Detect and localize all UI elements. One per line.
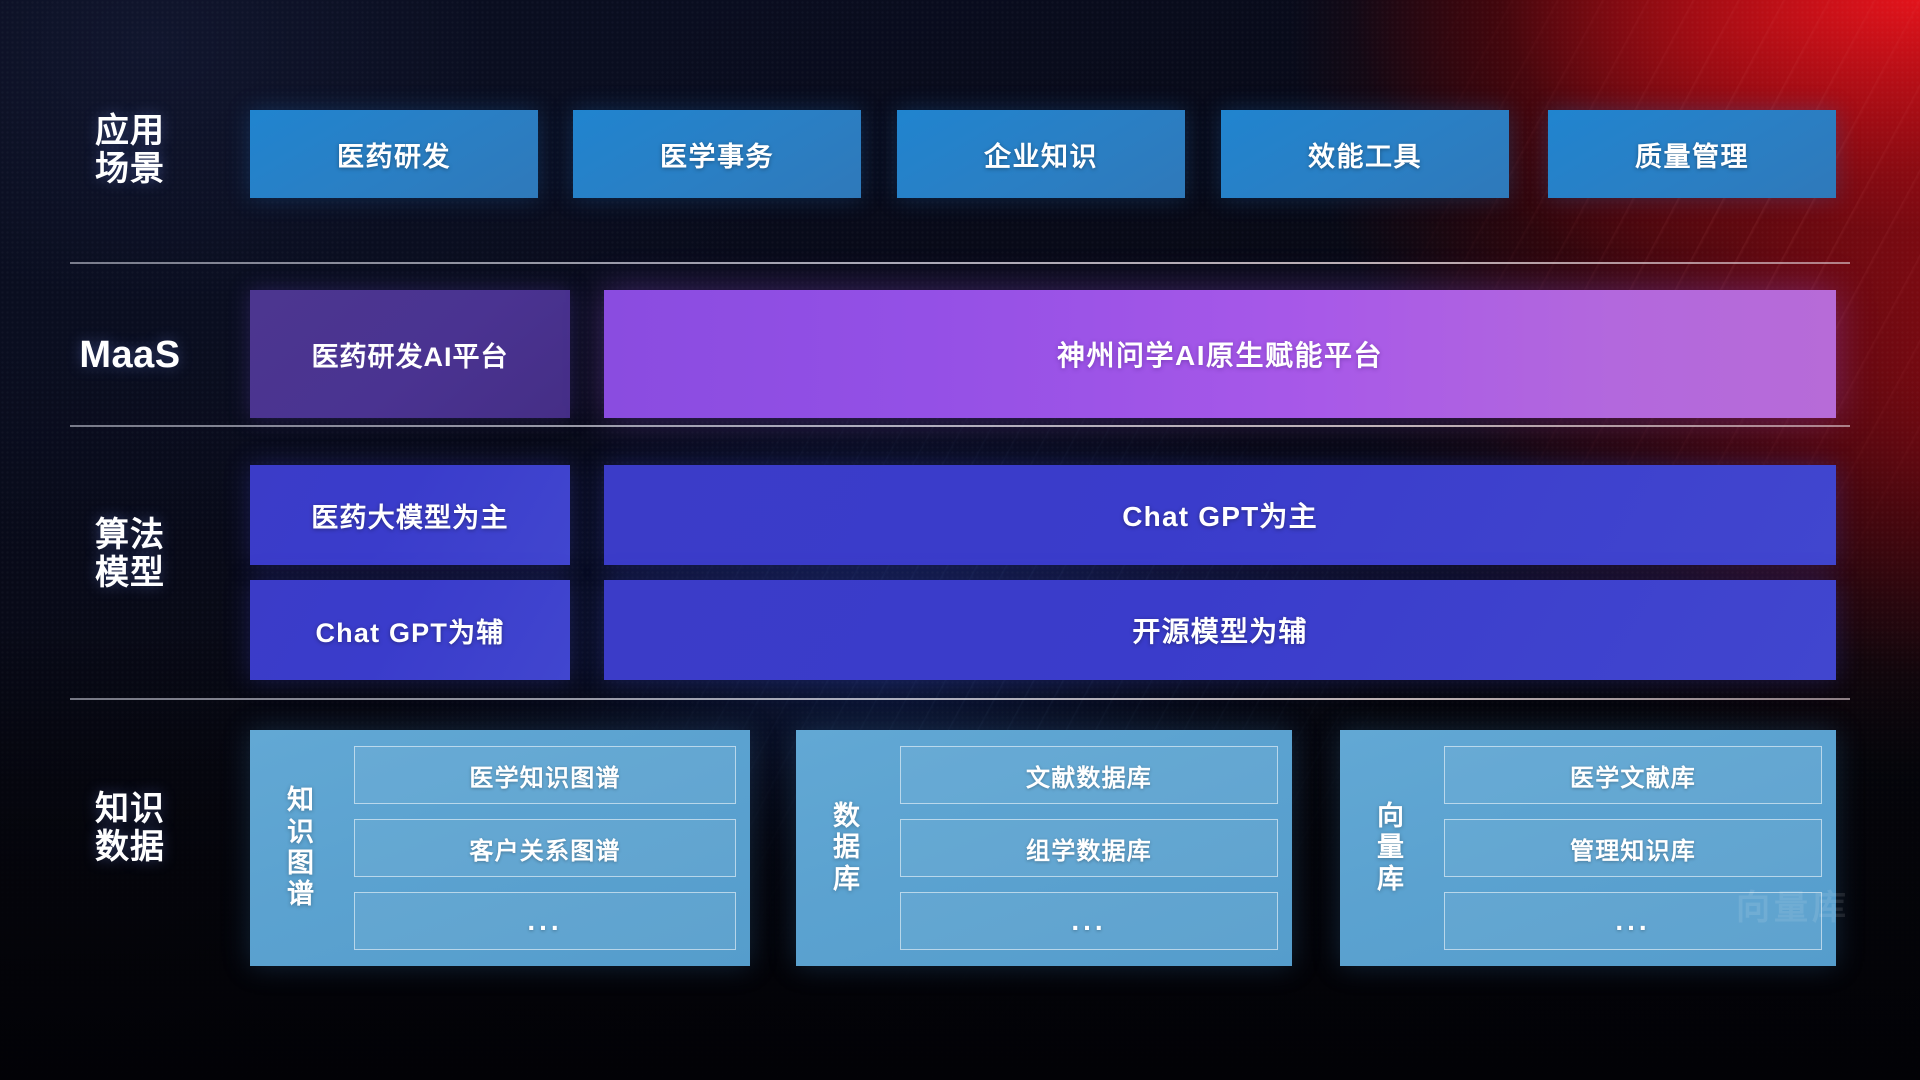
knowledge-group-title: 数 据 库 <box>806 746 888 950</box>
scenario-card-label: 企业知识 <box>984 135 1098 174</box>
knowledge-item[interactable]: 文献数据库 <box>900 746 1278 804</box>
scenario-card-enterprise-knowledge[interactable]: 企业知识 <box>897 110 1185 198</box>
algo-card-label: 开源模型为辅 <box>1132 610 1307 650</box>
knowledge-group-item-list: 医学知识图谱 客户关系图谱 ... <box>342 746 736 950</box>
row-label-algorithm-model: 算法 模型 <box>70 516 190 592</box>
scenario-card-medical-affairs[interactable]: 医学事务 <box>573 110 861 198</box>
knowledge-item-label: 医学知识图谱 <box>469 758 620 793</box>
knowledge-item-label: ... <box>527 905 562 937</box>
knowledge-item[interactable]: 组学数据库 <box>900 819 1278 877</box>
knowledge-item-more[interactable]: ... <box>900 892 1278 950</box>
scenario-card-label: 医药研发 <box>337 135 451 174</box>
row-label-knowledge-data: 知识 数据 <box>70 790 190 866</box>
algo-card-label: Chat GPT为辅 <box>315 611 504 650</box>
knowledge-item-more[interactable]: ... <box>354 892 736 950</box>
divider-line-3 <box>70 698 1850 700</box>
knowledge-item-label: 文献数据库 <box>1026 758 1152 793</box>
scenario-card-quality-management[interactable]: 质量管理 <box>1548 110 1836 198</box>
algo-card-chatgpt-primary[interactable]: Chat GPT为主 <box>604 465 1836 565</box>
scenario-card-drug-rd[interactable]: 医药研发 <box>250 110 538 198</box>
algo-card-chatgpt-secondary[interactable]: Chat GPT为辅 <box>250 580 570 680</box>
knowledge-group-item-list: 医学文献库 管理知识库 ... <box>1432 746 1822 950</box>
algo-card-label: Chat GPT为主 <box>1122 495 1318 535</box>
knowledge-group-item-list: 文献数据库 组学数据库 ... <box>888 746 1278 950</box>
maas-card-label: 神州问学AI原生赋能平台 <box>1057 334 1383 374</box>
divider-line-2 <box>70 425 1850 427</box>
knowledge-group-title: 知 识 图 谱 <box>260 746 342 950</box>
algo-card-label: 医药大模型为主 <box>311 496 508 535</box>
scenario-card-label: 效能工具 <box>1308 135 1422 174</box>
knowledge-group-vector-store[interactable]: 向 量 库 医学文献库 管理知识库 ... <box>1340 730 1836 966</box>
knowledge-item[interactable]: 医学知识图谱 <box>354 746 736 804</box>
scenario-card-efficiency-tools[interactable]: 效能工具 <box>1221 110 1509 198</box>
algo-card-opensource-secondary[interactable]: 开源模型为辅 <box>604 580 1836 680</box>
knowledge-item-more[interactable]: ... <box>1444 892 1822 950</box>
knowledge-item[interactable]: 客户关系图谱 <box>354 819 736 877</box>
maas-card-label: 医药研发AI平台 <box>312 335 509 374</box>
knowledge-item[interactable]: 管理知识库 <box>1444 819 1822 877</box>
maas-card-drug-rd-ai-platform[interactable]: 医药研发AI平台 <box>250 290 570 418</box>
knowledge-item-label: ... <box>1615 905 1650 937</box>
scenario-card-label: 质量管理 <box>1635 135 1749 174</box>
knowledge-item-label: 医学文献库 <box>1570 758 1696 793</box>
divider-line-1 <box>70 262 1850 264</box>
knowledge-item-label: 客户关系图谱 <box>469 831 620 866</box>
algo-card-pharma-llm-primary[interactable]: 医药大模型为主 <box>250 465 570 565</box>
knowledge-item-label: 管理知识库 <box>1570 831 1696 866</box>
knowledge-group-database[interactable]: 数 据 库 文献数据库 组学数据库 ... <box>796 730 1292 966</box>
knowledge-item-label: ... <box>1071 905 1106 937</box>
row-label-application-scenarios: 应用 场景 <box>70 112 190 188</box>
knowledge-item-label: 组学数据库 <box>1026 831 1152 866</box>
maas-card-shenzhou-wenxue-platform[interactable]: 神州问学AI原生赋能平台 <box>604 290 1836 418</box>
knowledge-item[interactable]: 医学文献库 <box>1444 746 1822 804</box>
scenario-card-label: 医学事务 <box>660 135 774 174</box>
slide-canvas: 应用 场景 医药研发 医学事务 企业知识 效能工具 质量管理 MaaS 医药研发… <box>0 0 1920 1080</box>
knowledge-group-title: 向 量 库 <box>1350 746 1432 950</box>
knowledge-group-knowledge-graph[interactable]: 知 识 图 谱 医学知识图谱 客户关系图谱 ... <box>250 730 750 966</box>
row-label-maas: MaaS <box>70 334 190 377</box>
